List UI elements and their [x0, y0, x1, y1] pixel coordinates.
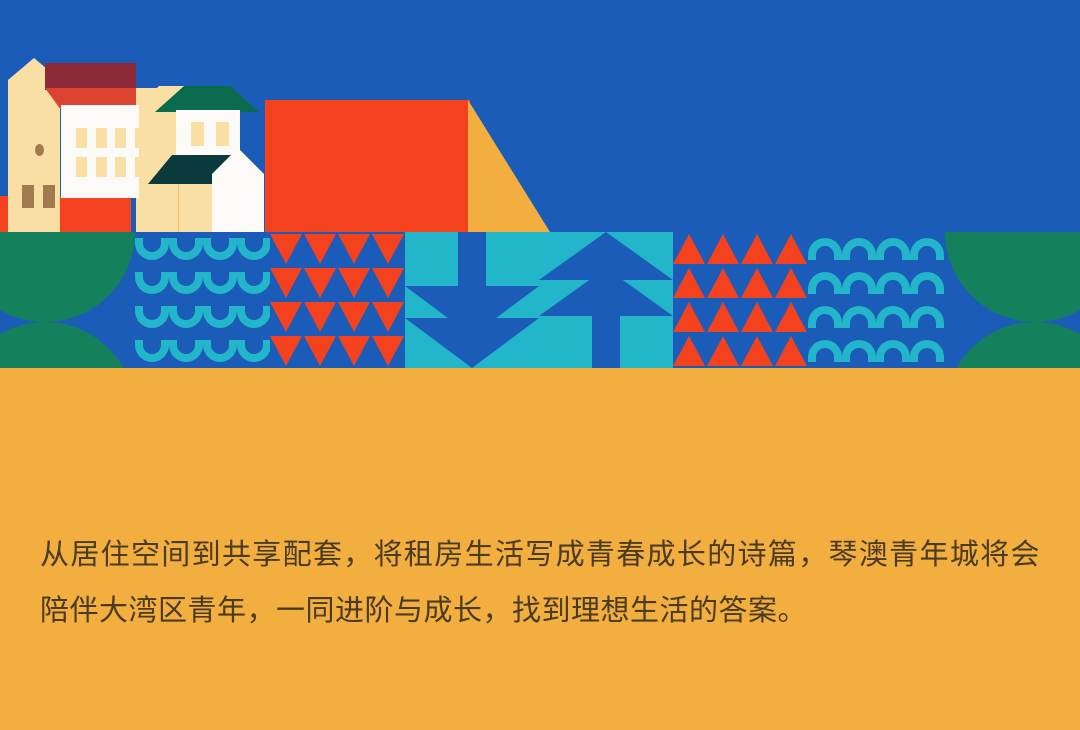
triangle-down-icon — [304, 268, 336, 298]
triangle-down-icon — [304, 234, 336, 264]
village-illustration — [0, 0, 1080, 232]
triangle-up-icon — [673, 302, 705, 332]
triangle-down-icon — [270, 336, 302, 366]
triangle-down-icon — [270, 268, 302, 298]
pattern-cell-triangles-down — [270, 232, 405, 368]
maroon-roof-slab — [45, 63, 136, 90]
triangle-up-icon — [741, 336, 773, 366]
wave-icon — [135, 272, 169, 294]
triangle-down-icon — [304, 302, 336, 332]
half-circle-shape — [0, 232, 135, 322]
arch-row — [808, 266, 945, 300]
wave-icon — [169, 238, 203, 260]
triangle-up-icon — [741, 268, 773, 298]
half-circle-shape — [0, 322, 135, 368]
triangle-up-icon — [673, 336, 705, 366]
triangle-up-icon — [775, 268, 807, 298]
arch-icon — [910, 272, 944, 294]
triangle-down-icon — [338, 268, 370, 298]
arch-icon — [808, 272, 842, 294]
arch-row — [808, 232, 945, 266]
triangle-up-icon — [741, 302, 773, 332]
tower-window — [22, 185, 34, 208]
wave-row — [135, 300, 270, 334]
small-house-window — [216, 122, 229, 146]
wave-icon — [169, 272, 203, 294]
triangle-up-icon — [707, 234, 739, 264]
pattern-cell-waves — [135, 232, 270, 368]
triangle-up-icon — [707, 336, 739, 366]
pattern-cell-arrows — [405, 232, 673, 368]
pattern-cell-triangles-up — [673, 232, 808, 368]
arch-icon — [876, 238, 910, 260]
triangle-down-icon — [372, 302, 404, 332]
triangle-down-icon — [372, 234, 404, 264]
triangle-up-icon — [775, 302, 807, 332]
wave-icon — [237, 340, 270, 362]
half-circle-shape — [945, 232, 1080, 322]
triangle-up-icon — [741, 234, 773, 264]
wave-icon — [135, 340, 169, 362]
arch-icon — [808, 340, 842, 362]
wave-icon — [135, 306, 169, 328]
triangle-down-icon — [338, 302, 370, 332]
tower-window — [43, 185, 55, 208]
wave-icon — [203, 306, 237, 328]
wave-icon — [169, 306, 203, 328]
arrow-up-icon — [405, 232, 673, 368]
wave-row — [135, 334, 270, 368]
arch-icon — [910, 238, 944, 260]
wave-icon — [237, 306, 270, 328]
triangle-down-icon — [270, 234, 302, 264]
triangle-up-icon — [775, 234, 807, 264]
apartment-window — [115, 128, 126, 148]
triangle-up-icon — [707, 302, 739, 332]
wave-icon — [237, 272, 270, 294]
triangle-up-icon — [673, 234, 705, 264]
caption-area: 从居住空间到共享配套，将租房生活写成青春成长的诗篇，琴澳青年城将会陪伴大湾区青年… — [0, 368, 1080, 730]
arch-icon — [876, 272, 910, 294]
arch-icon — [842, 272, 876, 294]
poster-page: 从居住空间到共享配套，将租房生活写成青春成长的诗篇，琴澳青年城将会陪伴大湾区青年… — [0, 0, 1080, 730]
triangle-up-icon — [707, 268, 739, 298]
green-mountain-range — [148, 170, 470, 232]
arch-icon — [842, 340, 876, 362]
small-white-house — [176, 110, 240, 156]
white-apartment-building — [61, 105, 151, 198]
wave-icon — [237, 238, 270, 260]
arch-icon — [876, 306, 910, 328]
pattern-cell-arches — [808, 232, 945, 368]
arch-icon — [842, 238, 876, 260]
half-circle-shape — [945, 322, 1080, 368]
pattern-cell-half-circles-left — [0, 232, 135, 368]
wave-icon — [203, 238, 237, 260]
triangle-down-icon — [338, 234, 370, 264]
wave-icon — [203, 272, 237, 294]
triangle-down-icon — [304, 336, 336, 366]
apartment-window — [76, 157, 87, 177]
tower-porthole-icon — [35, 144, 44, 156]
pattern-cell-half-circles-right — [945, 232, 1080, 368]
orange-roof-slope — [468, 100, 550, 232]
apartment-window — [96, 157, 107, 177]
caption-text: 从居住空间到共享配套，将租房生活写成青春成长的诗篇，琴澳青年城将会陪伴大湾区青年… — [40, 527, 1040, 639]
triangle-down-icon — [338, 336, 370, 366]
arch-icon — [910, 340, 944, 362]
arch-row — [808, 334, 945, 368]
apartment-window — [115, 157, 126, 177]
wave-icon — [169, 340, 203, 362]
arch-icon — [842, 306, 876, 328]
arch-icon — [876, 340, 910, 362]
wave-icon — [203, 340, 237, 362]
small-house-window — [191, 122, 204, 146]
arch-icon — [910, 306, 944, 328]
triangle-down-icon — [372, 268, 404, 298]
triangle-down-icon — [372, 336, 404, 366]
wave-icon — [135, 238, 169, 260]
triangle-up-icon — [673, 268, 705, 298]
wave-row — [135, 266, 270, 300]
apartment-window — [96, 128, 107, 148]
arch-row — [808, 300, 945, 334]
wave-row — [135, 232, 270, 266]
apartment-window — [76, 128, 87, 148]
pattern-band — [0, 232, 1080, 368]
triangle-up-icon — [775, 336, 807, 366]
triangle-down-icon — [270, 302, 302, 332]
arch-icon — [808, 306, 842, 328]
arch-icon — [808, 238, 842, 260]
